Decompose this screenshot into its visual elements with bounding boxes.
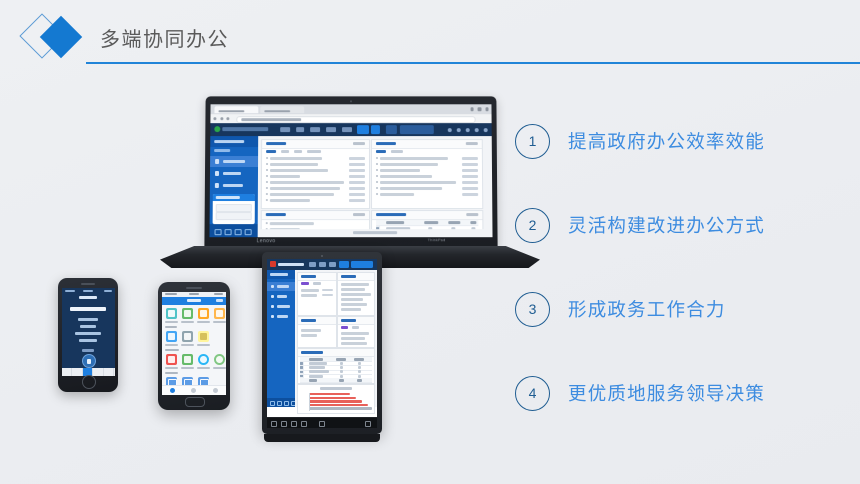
back-icon[interactable] [271,421,277,427]
sidebar-item[interactable] [267,292,295,301]
pane-tab-active[interactable] [266,150,276,153]
bullet-number: 1 [515,124,550,159]
dock-key[interactable] [62,368,73,376]
bullet-number: 4 [515,376,550,411]
browser-tab-inactive[interactable] [260,106,304,113]
app-header-action[interactable] [216,299,223,301]
pane-title [301,351,323,354]
doc-icon [271,295,274,298]
chart-title [320,387,352,390]
profile-icon [213,388,218,393]
column-header [424,221,438,224]
cloud-icon [216,356,223,363]
list-item-title[interactable] [270,181,344,184]
app-tile[interactable] [214,308,225,319]
list-item-title[interactable] [341,298,363,301]
list-item-date [462,157,478,160]
app-tile[interactable] [182,354,193,365]
tablet-content [295,270,377,407]
pane-notice-list [297,272,337,316]
pane-title [376,142,396,145]
user-icon[interactable] [466,128,470,132]
pane-title [341,275,356,278]
webcam-icon [350,100,352,102]
app-tile-label [181,367,194,369]
page-title: 多端协同办公 [100,23,229,52]
app-header-bar [162,297,226,305]
bullet-list: 1 提高政府办公效率效能 2 灵活构建改进办公方式 3 形成政务工作合力 4 更… [515,112,845,448]
list-item-date [349,199,365,202]
app-tile-label [213,321,226,323]
app-tile[interactable] [214,354,225,365]
carrier-text [65,290,75,292]
sidebar-subtitle [214,149,230,152]
app-icon [200,333,207,340]
dock-key[interactable] [104,368,115,376]
bullet-number: 3 [515,292,550,327]
chart-bar [310,400,362,402]
nav-item[interactable] [342,127,352,132]
dock-key[interactable] [93,368,104,376]
app-header-title [187,299,201,302]
pane-todo-list [337,272,375,316]
sidebar-item-label [223,172,241,175]
app-tile[interactable] [198,354,209,365]
list-item-date [322,294,333,296]
sidebar-item-label [223,160,245,163]
bullet-label: 形成政务工作合力 [568,296,726,322]
gear-icon[interactable] [475,128,479,132]
pane-more-link[interactable] [353,142,365,145]
close-icon[interactable] [485,107,489,110]
app-tile-label [181,344,194,346]
app-icon [168,333,175,340]
doc-icon [215,171,219,175]
pane-header [338,273,374,281]
pane-supervision-list [297,316,337,348]
info-line [75,332,101,335]
header-divider [86,62,860,64]
nav-item[interactable] [280,127,290,132]
app-tile-label [197,321,210,323]
folder-icon[interactable] [225,229,232,236]
list-item-date [462,175,478,178]
login-heading [70,307,106,311]
browser-nav-buttons[interactable] [213,117,229,120]
nav-item-highlight[interactable] [386,126,397,134]
app-tile-label [181,321,194,323]
pane-tab-active[interactable] [301,282,309,285]
list-item-title[interactable] [270,175,300,178]
app-tile[interactable] [198,331,209,342]
carrier-text [165,293,177,295]
tablet-stand [264,434,380,442]
button-caption [82,349,94,352]
tablet-sidebar [267,270,295,407]
sidebar-header [267,270,295,279]
pie-chart-icon [200,356,207,363]
nav-item[interactable] [329,262,336,266]
list-item-title[interactable] [341,308,361,311]
sidebar-item-selected[interactable] [267,282,295,291]
info-line [78,318,98,321]
app-icon [184,333,191,340]
info-line [80,325,96,328]
app-icon [184,356,191,363]
sidebar-footer [267,398,295,407]
pane-document-list [337,316,375,348]
home-icon[interactable] [281,421,287,427]
list-item-title[interactable] [270,187,340,190]
sidebar-search-card [213,194,255,224]
app-tile-label [165,344,178,346]
logout-icon[interactable] [484,128,488,132]
bullet-label: 更优质地服务领导决策 [568,380,765,406]
front-camera-icon [321,255,323,257]
laptop-lid: Lenovo ThinkPad [204,96,497,248]
nav-item-active[interactable] [357,126,369,134]
pane-header [262,211,369,220]
list-item-date [349,163,365,166]
list-item-title[interactable] [270,157,322,160]
pane-tabs[interactable] [301,282,321,285]
sidebar-card-title [216,196,240,199]
list-item-title[interactable] [270,169,328,172]
list-item-title[interactable] [301,334,317,337]
folder-icon[interactable] [277,401,282,406]
group-label [165,326,177,328]
maximize-icon[interactable] [478,107,482,110]
bottom-tab-bar[interactable] [162,385,226,395]
list-item-title[interactable] [341,332,369,335]
pane-title [341,319,356,322]
phone-middle-screen [162,292,226,395]
pane-tab-active[interactable] [376,150,386,153]
contacts-icon [191,388,196,393]
list-item-title[interactable] [380,157,448,160]
nav-item[interactable] [310,127,320,132]
pane-notice-list [261,139,370,209]
chart-bar [310,397,356,399]
column-header [470,221,476,224]
bullet-label: 灵活构建改进办公方式 [568,212,765,238]
bullet-item-4[interactable]: 4 更优质地服务领导决策 [515,364,845,422]
doc-icon [271,305,274,308]
tab-contacts[interactable] [183,386,204,395]
list-item-title[interactable] [341,293,371,296]
pane-title [301,319,316,322]
tab-title-text [264,110,290,112]
back-icon[interactable] [213,117,216,120]
list-item-title[interactable] [301,294,317,297]
app-title [79,296,97,299]
chart-bar [310,407,372,409]
earpiece-icon [186,287,202,289]
pane-title [376,213,406,216]
pane-more-link[interactable] [466,213,478,216]
nav-item[interactable] [319,262,326,266]
office-web-app [209,123,492,237]
pane-tab-active[interactable] [341,326,348,329]
list-item-title[interactable] [380,163,438,166]
nav-search-box[interactable] [400,126,434,134]
login-button[interactable] [82,354,96,368]
pane-tab[interactable] [281,150,289,153]
home-button[interactable] [185,397,205,407]
pane-tab[interactable] [307,150,321,153]
list-item-title[interactable] [341,288,365,291]
app-tile[interactable] [166,308,177,319]
tab-home[interactable] [162,386,183,395]
list-item-date [322,289,333,291]
sidebar-item[interactable] [210,168,258,179]
bullet-item-3[interactable]: 3 形成政务工作合力 [515,280,845,338]
sidebar-footer [209,224,257,237]
list-item-date [349,175,365,178]
pane-tabs[interactable] [341,326,359,329]
stats-table [300,357,372,382]
browser-tab-strip [210,104,491,114]
pane-header [262,140,369,149]
app-top-nav [210,123,491,136]
new-tab-button[interactable] [306,106,315,113]
group-label [165,372,178,374]
tablet-device [262,252,398,442]
laptop-screen [209,104,492,237]
pane-title [266,213,286,216]
tablet-body [262,252,382,434]
pane-header [338,317,374,325]
pane-header [298,349,374,357]
footer-text [353,232,397,235]
sidebar-item[interactable] [267,312,295,321]
clock-text [83,290,93,292]
list-item-title[interactable] [270,222,314,225]
url-text [241,119,301,121]
pane-header [372,211,482,220]
pane-title [301,275,316,278]
sidebar-item-label [277,315,288,318]
notification-icon[interactable] [448,128,452,132]
pane-tabs[interactable] [266,150,321,153]
pane-todo-list [371,139,483,209]
app-footer [258,229,493,237]
doc-icon [271,285,274,288]
list-item-date [462,187,478,190]
browser-tab-active[interactable] [214,106,258,113]
phone-middle-body [158,282,230,410]
window-controls[interactable] [470,107,488,110]
list-item-title[interactable] [380,169,420,172]
list-item-date [349,169,365,172]
list-item-title[interactable] [301,289,319,292]
pane-title [266,142,286,145]
pane-tab[interactable] [294,150,302,153]
sidebar-item[interactable] [210,180,258,191]
sidebar-item[interactable] [267,302,295,311]
pane-tab[interactable] [352,326,359,329]
app-logo-icon [270,261,276,267]
column-header [386,221,404,224]
calendar-icon[interactable] [235,229,242,236]
chart-bar [310,404,368,406]
app-logo-text [222,127,268,131]
app-tile[interactable] [166,331,177,342]
reload-icon[interactable] [226,117,229,120]
nav-item[interactable] [296,127,304,132]
list-item-title[interactable] [270,199,310,202]
expand-icon[interactable] [245,229,252,236]
list-item-title[interactable] [380,181,456,184]
minimize-icon[interactable] [470,107,474,110]
app-tile-label [165,367,178,369]
sidebar-card-input[interactable] [216,204,252,212]
app-tile-label [213,367,226,369]
calendar-icon[interactable] [284,401,289,406]
list-item-title[interactable] [380,193,414,196]
app-icon [200,310,207,317]
info-line [79,339,97,342]
pane-tab[interactable] [313,282,321,285]
app-logo-text [278,263,304,267]
list-item-title[interactable] [270,163,318,166]
pane-tab[interactable] [391,150,403,153]
list-item-date [462,169,478,172]
sidebar-card-input[interactable] [216,212,252,220]
group-label [165,349,179,351]
pane-statistics-table [297,348,375,384]
clock-text [189,293,199,295]
app-icon [168,310,175,317]
list-item-title[interactable] [380,175,432,178]
slide-canvas: 多端协同办公 [0,0,860,484]
list-item-title[interactable] [380,187,442,190]
nav-search-box[interactable] [351,261,373,268]
windows-icon[interactable] [319,421,325,427]
home-icon[interactable] [215,229,222,236]
pane-header [298,273,336,281]
list-item-title[interactable] [341,303,367,306]
app-tile-label [165,321,178,323]
app-icon [184,310,191,317]
pane-tabs[interactable] [376,150,403,153]
sidebar-header [210,136,258,147]
app-icon [216,310,223,317]
home-icon[interactable] [270,401,275,406]
list-item-date [349,187,365,190]
sidebar-header-text [214,140,244,143]
cell-total [357,379,362,382]
double-diamond-logo [16,12,98,62]
home-icon [170,388,175,393]
lock-icon [87,359,91,364]
app-tile-label [197,344,210,346]
nav-item-active[interactable] [339,261,349,268]
cell-total-label [309,379,317,382]
phone-left-device [58,278,122,396]
pane-more-link[interactable] [353,213,365,216]
tablet-taskbar [267,418,377,428]
tab-title-text [218,110,244,112]
sidebar-item-label [277,285,289,288]
app-tile[interactable] [182,331,193,342]
laptop-brand-label: Lenovo [257,238,276,244]
pane-header [372,140,482,149]
nav-item[interactable] [326,127,336,132]
tablet-screen [267,259,377,417]
list-item-date [349,181,365,184]
earpiece-icon [81,283,95,285]
apps-icon[interactable] [301,421,307,427]
app-content-panes [258,136,493,237]
list-item-title[interactable] [301,329,321,332]
sidebar-item-label [277,295,287,298]
list-item-date [349,157,365,160]
dock-key[interactable] [72,368,83,376]
sidebar-item-label [223,184,243,187]
app-sidebar [209,136,258,237]
column-header [448,221,460,224]
app-tile[interactable] [182,308,193,319]
phone-middle-device [158,282,234,414]
cell-total [339,379,344,382]
doc-icon [215,159,219,163]
list-item-date [462,193,478,196]
list-item-date [462,163,478,166]
bullet-item-1[interactable]: 1 提高政府办公效率效能 [515,112,845,170]
bullet-label: 提高政府办公效率效能 [568,128,765,154]
pane-header [298,317,336,325]
laptop-brand-right-label: ThinkPad [428,238,446,242]
sidebar-item-selected[interactable] [210,156,258,167]
battery-icon [104,290,112,292]
nav-action-icons[interactable] [448,128,488,132]
home-button[interactable] [82,375,96,389]
nav-item[interactable] [309,262,316,266]
table-total-row [300,378,372,383]
tablet-app-nav [267,259,377,270]
app-icon [168,356,175,363]
status-bar [62,288,115,293]
forward-icon[interactable] [220,117,223,120]
nav-item-active[interactable] [371,126,380,134]
app-tile-label [197,367,210,369]
list-item-date [349,193,365,196]
battery-icon [214,293,223,295]
doc-icon [271,315,274,318]
app-tile[interactable] [166,354,177,365]
clock-icon [365,421,371,427]
bullet-item-2[interactable]: 2 灵活构建改进办公方式 [515,196,845,254]
list-item-title[interactable] [341,337,365,340]
bullet-number: 2 [515,208,550,243]
list-item-title[interactable] [270,193,334,196]
list-item-title[interactable] [341,342,367,345]
list-item-title[interactable] [341,283,369,286]
sidebar-item-label [277,305,290,308]
phone-left-screen [62,288,115,376]
slide-header: 多端协同办公 [0,0,860,72]
app-logo-icon [214,127,220,133]
message-icon[interactable] [457,128,461,132]
doc-icon [215,183,219,187]
sidebar-header-text [270,273,288,276]
app-tile[interactable] [198,308,209,319]
recents-icon[interactable] [291,421,297,427]
pane-more-link[interactable] [466,142,478,145]
tab-profile[interactable] [205,386,226,395]
list-item-date [462,181,478,184]
